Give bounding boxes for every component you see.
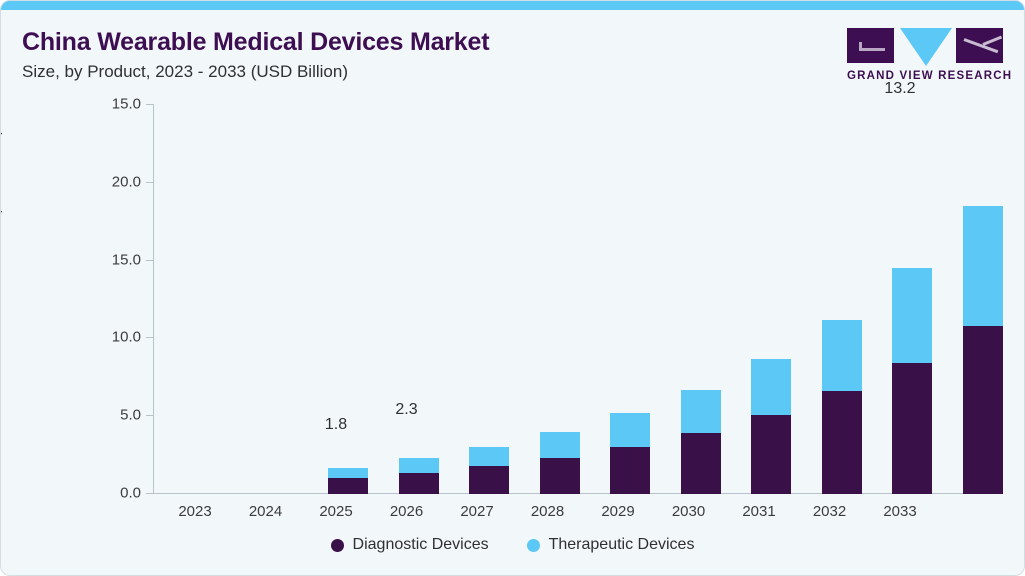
bar-value-label: 2.3 bbox=[365, 401, 449, 419]
bar-segment-diagnostic[interactable] bbox=[540, 458, 580, 494]
y-axis-tick bbox=[146, 260, 153, 261]
y-axis-tick bbox=[146, 104, 153, 105]
legend-item[interactable]: Diagnostic Devices bbox=[331, 536, 489, 554]
bar-group[interactable] bbox=[469, 447, 509, 494]
y-axis-tick-label: 5.0 bbox=[81, 407, 141, 424]
plot-area bbox=[153, 104, 998, 494]
bar-segment-diagnostic[interactable] bbox=[610, 447, 650, 494]
bar-segment-therapeutic[interactable] bbox=[963, 206, 1003, 326]
legend-item[interactable]: Therapeutic Devices bbox=[527, 536, 695, 554]
y-axis-tick bbox=[146, 337, 153, 338]
bar-segment-diagnostic[interactable] bbox=[681, 433, 721, 494]
logo-r-tail bbox=[982, 36, 1002, 46]
logo-letter-v-icon bbox=[900, 28, 952, 66]
x-axis-tick-label: 2033 bbox=[858, 503, 942, 520]
bar-group[interactable] bbox=[540, 432, 580, 494]
y-axis-tick bbox=[146, 493, 153, 494]
bar-segment-diagnostic[interactable] bbox=[328, 478, 368, 494]
y-axis-tick-label: 15.0 bbox=[81, 251, 141, 268]
legend-color-swatch-icon bbox=[527, 539, 540, 552]
bar-segment-therapeutic[interactable] bbox=[328, 468, 368, 478]
chart-header: China Wearable Medical Devices Market Si… bbox=[0, 10, 1025, 88]
legend-color-swatch-icon bbox=[331, 539, 344, 552]
y-axis-tick-label: 0.0 bbox=[81, 485, 141, 502]
bar-segment-diagnostic[interactable] bbox=[399, 473, 439, 494]
legend-item-label: Therapeutic Devices bbox=[549, 536, 695, 554]
y-axis-title: Market Size (USD Billion) bbox=[0, 130, 3, 299]
bar-group[interactable] bbox=[610, 413, 650, 494]
bar-group[interactable] bbox=[328, 468, 368, 494]
bar-segment-therapeutic[interactable] bbox=[751, 359, 791, 415]
legend-item-label: Diagnostic Devices bbox=[353, 536, 489, 554]
bar-segment-therapeutic[interactable] bbox=[681, 390, 721, 433]
bar-segment-diagnostic[interactable] bbox=[469, 466, 509, 494]
chart-legend: Diagnostic DevicesTherapeutic Devices bbox=[0, 536, 1025, 554]
bar-segment-diagnostic[interactable] bbox=[963, 326, 1003, 494]
chart-subtitle: Size, by Product, 2023 - 2033 (USD Billi… bbox=[22, 62, 348, 82]
bar-segment-therapeutic[interactable] bbox=[399, 458, 439, 473]
bar-segment-diagnostic[interactable] bbox=[892, 363, 932, 494]
bar-value-label: 13.2 bbox=[858, 80, 942, 98]
bar-value-label: 1.8 bbox=[294, 416, 378, 434]
chart-card: China Wearable Medical Devices Market Si… bbox=[0, 0, 1025, 576]
bar-segment-diagnostic[interactable] bbox=[822, 391, 862, 494]
logo-letter-r-icon bbox=[956, 28, 1003, 63]
bar-group[interactable] bbox=[963, 206, 1003, 494]
y-axis-tick-label: 10.0 bbox=[81, 329, 141, 346]
y-axis-tick-label: 20.0 bbox=[81, 173, 141, 190]
page-title: China Wearable Medical Devices Market bbox=[22, 28, 489, 57]
logo-g-bar bbox=[859, 48, 885, 51]
y-axis-tick-label: 15.0 bbox=[81, 96, 141, 113]
bar-segment-therapeutic[interactable] bbox=[469, 447, 509, 466]
bar-segment-therapeutic[interactable] bbox=[540, 432, 580, 458]
bar-group[interactable] bbox=[751, 359, 791, 494]
bar-segment-therapeutic[interactable] bbox=[892, 268, 932, 363]
y-axis-tick bbox=[146, 182, 153, 183]
logo-marks bbox=[847, 28, 1007, 65]
bar-segment-therapeutic[interactable] bbox=[822, 320, 862, 392]
top-accent-bar bbox=[0, 0, 1025, 10]
bar-segment-diagnostic[interactable] bbox=[751, 415, 791, 494]
bar-group[interactable] bbox=[822, 320, 862, 494]
bar-group[interactable] bbox=[399, 458, 439, 494]
y-axis-tick bbox=[146, 415, 153, 416]
bar-segment-therapeutic[interactable] bbox=[610, 413, 650, 446]
logo-letter-g-icon bbox=[847, 28, 894, 63]
bar-group[interactable] bbox=[681, 390, 721, 494]
bar-group[interactable] bbox=[892, 268, 932, 494]
